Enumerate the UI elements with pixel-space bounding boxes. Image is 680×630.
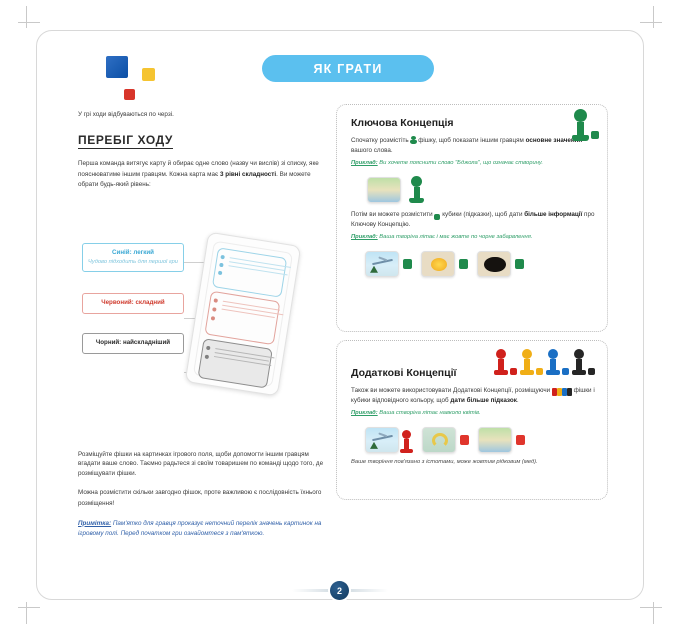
crop-mark	[26, 602, 27, 624]
card-dot	[206, 346, 211, 351]
key-concept-text-2: Потім ви можете розмістити кубики (підка…	[351, 210, 595, 230]
difficulty-box-blue: Синій: легкий Чудово підходить для першо…	[82, 243, 184, 272]
ec-text-c: .	[517, 397, 519, 404]
card-dot	[213, 298, 218, 303]
difficulty-box-red: Червоний: складний	[82, 293, 184, 314]
card-dot	[212, 307, 217, 312]
pawn-unit-black	[572, 349, 595, 375]
crop-mark	[653, 6, 654, 28]
yellow-egg-tile	[421, 251, 455, 277]
yellow-pawn-icon	[520, 349, 534, 375]
sky-plane-tile	[365, 427, 399, 453]
key-concept-text-1: Спочатку розмістіть фішку, щоб показати …	[351, 136, 595, 156]
kc2-text-bold: більше інформації	[524, 211, 582, 218]
crop-mark	[18, 607, 40, 608]
tile-group	[422, 427, 469, 453]
black-blob-tile	[477, 251, 511, 277]
intro-paragraph: Перша команда витягує карту й обирає одн…	[78, 159, 328, 190]
blue-square-icon	[106, 56, 128, 78]
card-section-red	[204, 291, 280, 345]
difficulty-label-blue: Синій: легкий	[87, 249, 179, 258]
crop-mark	[640, 22, 662, 23]
difficulty-sub-blue: Чудово підходить для першої гри	[87, 258, 179, 266]
red-pawn-icon	[400, 430, 413, 453]
map-tile	[478, 427, 512, 453]
kc2-text-a: Потім ви можете розмістити	[351, 211, 434, 218]
note-text: Пам'ятко для гравця проказує неточний пе…	[78, 520, 321, 537]
yellow-square-icon	[142, 68, 155, 81]
green-cube-icon	[591, 131, 599, 139]
card-dot	[211, 316, 216, 321]
note-label: Примітка:	[78, 520, 111, 527]
plane-icon	[372, 259, 393, 265]
ec-example-label: Приклад:	[351, 410, 378, 416]
sky-plane-tile	[365, 251, 399, 277]
game-card-inner	[193, 241, 293, 388]
crop-mark	[26, 6, 27, 28]
black-cube-icon	[588, 368, 595, 375]
blue-cube-icon	[562, 368, 569, 375]
left-column-bottom: Розміщуйте фішки на картинках ігрового п…	[78, 450, 328, 539]
difficulty-label-black: Чорний: найскладніший	[87, 339, 179, 348]
page-root: ЯК ГРАТИ У грі ходи відбуваються по черз…	[0, 0, 680, 630]
extra-pawn-row	[494, 349, 595, 375]
bee-card-tile	[367, 177, 401, 203]
tile-group	[478, 427, 525, 453]
page-title: ЯК ГРАТИ	[313, 62, 382, 76]
black-pawn-icon	[572, 349, 586, 375]
green-cube-icon	[459, 259, 468, 269]
card-section-black	[197, 338, 272, 388]
tile-group	[421, 251, 468, 277]
blue-pawn-icon	[546, 349, 560, 375]
key-concept-title: Ключова Концепція	[351, 117, 595, 129]
kc2-text-b: кубики (підказки), щоб дати	[440, 211, 524, 218]
kc-example-2-label: Приклад:	[351, 234, 378, 240]
inline-green-pawn-icon	[410, 136, 416, 145]
extra-concepts-text: Також ви можете використовувати Додатков…	[351, 386, 595, 406]
card-dot	[218, 271, 223, 276]
kc-example-1-text: Ви хочете пояснити слово "Бджола", що оз…	[378, 160, 543, 166]
pawn-unit-red	[494, 349, 517, 375]
kc-example-1-label: Приклад:	[351, 160, 378, 166]
intro-bold: 3 рівні складності	[220, 171, 276, 178]
page-title-banner: ЯК ГРАТИ	[262, 55, 434, 82]
card-dot	[220, 255, 225, 260]
ec-text-a: Також ви можете використовувати Додатков…	[351, 387, 552, 394]
kc-example-2-text: Ваша творіна літає і має жовте по чорне …	[378, 234, 533, 240]
extra-concepts-caption: Ваше творіння пов'язано з істотами, може…	[351, 459, 595, 465]
green-pawn-large-icon	[409, 176, 424, 203]
extra-concepts-example: Приклад: Ваша створіна літає навколо кві…	[351, 409, 595, 418]
kc-text-b: фішку, щоб показати іншим гравцям	[416, 137, 525, 144]
note-paragraph: Примітка: Пам'ятко для гравця проказує н…	[78, 519, 328, 539]
yellow-ring-tile	[422, 427, 456, 453]
key-concept-example-figure	[367, 176, 595, 203]
ec-text-bold: дати більше підказок	[450, 397, 516, 404]
yellow-cube-icon	[536, 368, 543, 375]
inline-pawn-group-icon	[552, 386, 572, 396]
tile-group	[365, 251, 412, 277]
card-dot	[219, 263, 224, 268]
difficulty-label-red: Червоний: складний	[87, 299, 179, 308]
tree-icon	[370, 266, 378, 273]
green-pawn-icon	[572, 109, 589, 141]
placement-paragraph-2: Можна розмістити скільки завгодно фішок,…	[78, 488, 328, 508]
red-pawn-icon	[494, 349, 508, 375]
card-word-line	[221, 309, 274, 318]
red-cube-icon	[516, 435, 525, 445]
difficulty-box-black: Чорний: найскладніший	[82, 333, 184, 354]
green-cube-icon	[403, 259, 412, 269]
page-number: 2	[330, 581, 349, 600]
crop-mark	[640, 607, 662, 608]
left-column: У грі ходи відбуваються по черзі. ПЕРЕБІ…	[78, 110, 328, 190]
ec-example-text: Ваша створіна літає навколо квітів.	[378, 410, 481, 416]
difficulty-levels: Синій: легкий Чудово підходить для першо…	[82, 243, 184, 354]
pawn-unit-blue	[546, 349, 569, 375]
extra-concepts-panel: Додаткові Концепції Також ви можете вико…	[336, 340, 608, 500]
tree-icon	[370, 442, 378, 449]
card-dot	[205, 355, 210, 360]
kc-text-c: вашого слова.	[351, 147, 393, 154]
key-concept-example-1: Приклад: Ви хочете пояснити слово "Бджол…	[351, 159, 595, 168]
decorative-squares	[98, 52, 178, 98]
kc-text-a: Спочатку розмістіть	[351, 137, 410, 144]
extra-concepts-tile-row	[365, 427, 595, 453]
lead-text: У грі ходи відбуваються по черзі.	[78, 110, 328, 119]
card-section-blue	[212, 247, 287, 297]
red-cube-icon	[460, 435, 469, 445]
tile-group	[365, 427, 413, 453]
red-cube-icon	[510, 368, 517, 375]
key-concept-tile-row	[365, 251, 595, 277]
crop-mark	[18, 22, 40, 23]
plane-icon	[372, 435, 393, 441]
placement-paragraph-1: Розміщуйте фішки на картинках ігрового п…	[78, 450, 328, 478]
pawn-unit-yellow	[520, 349, 543, 375]
tile-group	[477, 251, 524, 277]
crop-mark	[653, 602, 654, 624]
key-concept-panel: Ключова Концепція Спочатку розмістіть фі…	[336, 104, 608, 332]
key-concept-example-2: Приклад: Ваша творіна літає і має жовте …	[351, 233, 595, 242]
red-square-icon	[124, 89, 135, 100]
section-heading: ПЕРЕБІГ ХОДУ	[78, 133, 173, 149]
green-cube-icon	[515, 259, 524, 269]
